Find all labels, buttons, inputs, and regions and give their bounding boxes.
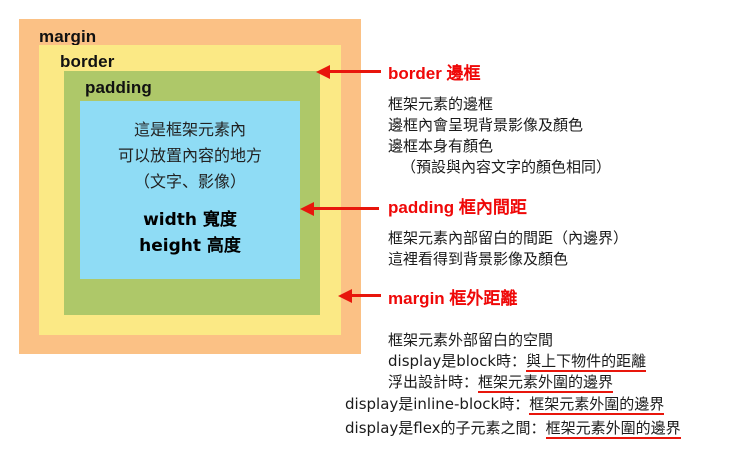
annotation-border: border 邊框 框架元素的邊框 邊框內會呈現背景影像及顏色 邊框本身有顏色 …	[388, 59, 611, 178]
annotation-border-line-3: 邊框本身有顏色	[388, 136, 611, 157]
content-line-3: （文字、影像）	[80, 169, 300, 195]
annotation-padding-line-1: 框架元素內部留白的間距（內邊界）	[388, 228, 628, 249]
footer-rule-2-prefix: display是flex的子元素之間：	[345, 419, 546, 437]
content-width-label: width 寬度	[80, 207, 300, 233]
arrow-to-border-icon	[329, 70, 381, 73]
content-box-text: 這是框架元素內 可以放置內容的地方 （文字、影像） width 寬度 heigh…	[80, 117, 300, 259]
footer-rule-1-prefix: display是inline-block時：	[345, 395, 529, 413]
footer-rule-2: display是flex的子元素之間：框架元素外圍的邊界	[345, 416, 681, 440]
annotation-margin-line-1: 框架元素外部留白的空間	[388, 330, 646, 351]
annotation-margin-rule-1: display是block時：與上下物件的距離	[388, 351, 646, 372]
arrow-to-padding-icon	[313, 207, 379, 210]
annotation-border-line-2: 邊框內會呈現背景影像及顏色	[388, 115, 611, 136]
annotation-border-line-1: 框架元素的邊框	[388, 94, 611, 115]
footer-rule-1: display是inline-block時：框架元素外圍的邊界	[345, 392, 681, 416]
margin-box: margin border padding 這是框架元素內 可以放置內容的地方 …	[19, 19, 361, 354]
annotation-margin-rule-2-prefix: 浮出設計時：	[388, 373, 478, 391]
margin-box-label: margin	[39, 27, 96, 47]
annotation-border-line-4: （預設與內容文字的顏色相同）	[388, 157, 611, 178]
annotation-margin-rule-2-emphasis: 框架元素外圍的邊界	[478, 373, 613, 393]
content-line-2: 可以放置內容的地方	[80, 143, 300, 169]
annotation-margin-heading: margin 框外距離	[388, 284, 646, 309]
border-box-label: border	[60, 52, 114, 72]
annotation-padding-heading: padding 框內間距	[388, 193, 628, 218]
arrow-to-margin-icon	[351, 294, 381, 297]
footer-rule-1-emphasis: 框架元素外圍的邊界	[529, 395, 664, 415]
annotation-margin-rule-1-emphasis: 與上下物件的距離	[526, 352, 646, 372]
padding-box: padding 這是框架元素內 可以放置內容的地方 （文字、影像） width …	[64, 71, 320, 315]
content-spacer	[80, 195, 300, 207]
annotation-padding: padding 框內間距 框架元素內部留白的間距（內邊界） 這裡看得到背景影像及…	[388, 193, 628, 270]
content-height-label: height 高度	[80, 233, 300, 259]
content-line-1: 這是框架元素內	[80, 117, 300, 143]
annotation-margin-rule-1-prefix: display是block時：	[388, 352, 526, 370]
padding-box-label: padding	[85, 78, 152, 98]
footer-rules: display是inline-block時：框架元素外圍的邊界 display是…	[345, 392, 681, 440]
annotation-border-body: 框架元素的邊框 邊框內會呈現背景影像及顏色 邊框本身有顏色 （預設與內容文字的顏…	[388, 94, 611, 178]
footer-rule-2-emphasis: 框架元素外圍的邊界	[546, 419, 681, 439]
annotation-margin: margin 框外距離 框架元素外部留白的空間 display是block時：與…	[388, 284, 646, 393]
annotation-padding-body: 框架元素內部留白的間距（內邊界） 這裡看得到背景影像及顏色	[388, 228, 628, 270]
annotation-padding-line-2: 這裡看得到背景影像及顏色	[388, 249, 628, 270]
annotation-margin-rule-2: 浮出設計時：框架元素外圍的邊界	[388, 372, 646, 393]
content-box: 這是框架元素內 可以放置內容的地方 （文字、影像） width 寬度 heigh…	[80, 101, 300, 279]
diagram-canvas: margin border padding 這是框架元素內 可以放置內容的地方 …	[0, 0, 750, 461]
annotation-border-heading: border 邊框	[388, 59, 611, 84]
border-box: border padding 這是框架元素內 可以放置內容的地方 （文字、影像）…	[39, 45, 341, 335]
annotation-margin-body: 框架元素外部留白的空間 display是block時：與上下物件的距離 浮出設計…	[388, 330, 646, 393]
